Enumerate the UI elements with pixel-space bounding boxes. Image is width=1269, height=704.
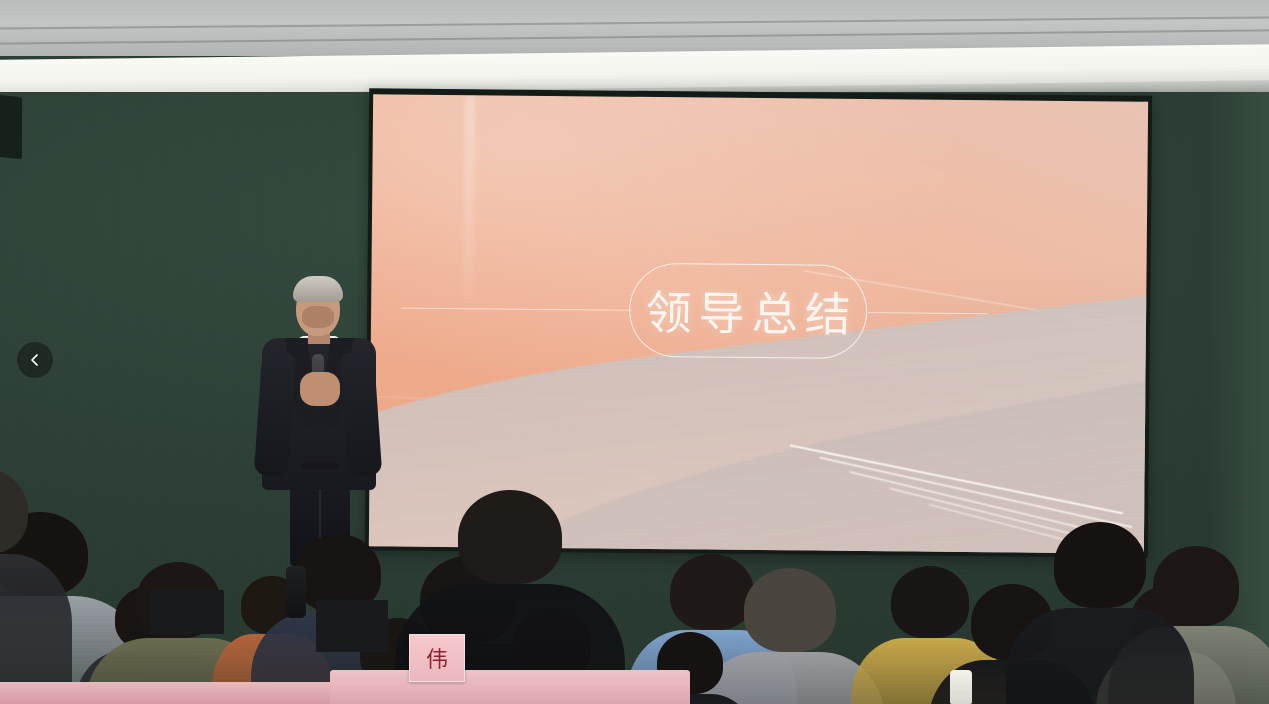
presenter-face-shading bbox=[302, 306, 334, 328]
desk-front-row-center bbox=[330, 670, 690, 704]
laptop bbox=[316, 600, 388, 652]
photo-viewer: 领导总结 伟 bbox=[0, 0, 1269, 704]
slide-title: 领导总结 bbox=[629, 263, 868, 359]
presenter-hands bbox=[300, 372, 340, 406]
presenter-hair bbox=[293, 276, 343, 302]
screen-light-streak bbox=[463, 95, 475, 300]
previous-button[interactable] bbox=[17, 342, 53, 378]
thermos bbox=[286, 566, 306, 618]
name-card: 伟 bbox=[409, 634, 465, 682]
chevron-left-icon bbox=[28, 353, 42, 367]
ceiling-speaker bbox=[0, 95, 22, 160]
water-bottle bbox=[950, 670, 972, 704]
foreground-objects: 伟 bbox=[0, 444, 1269, 704]
laptop bbox=[150, 590, 224, 634]
